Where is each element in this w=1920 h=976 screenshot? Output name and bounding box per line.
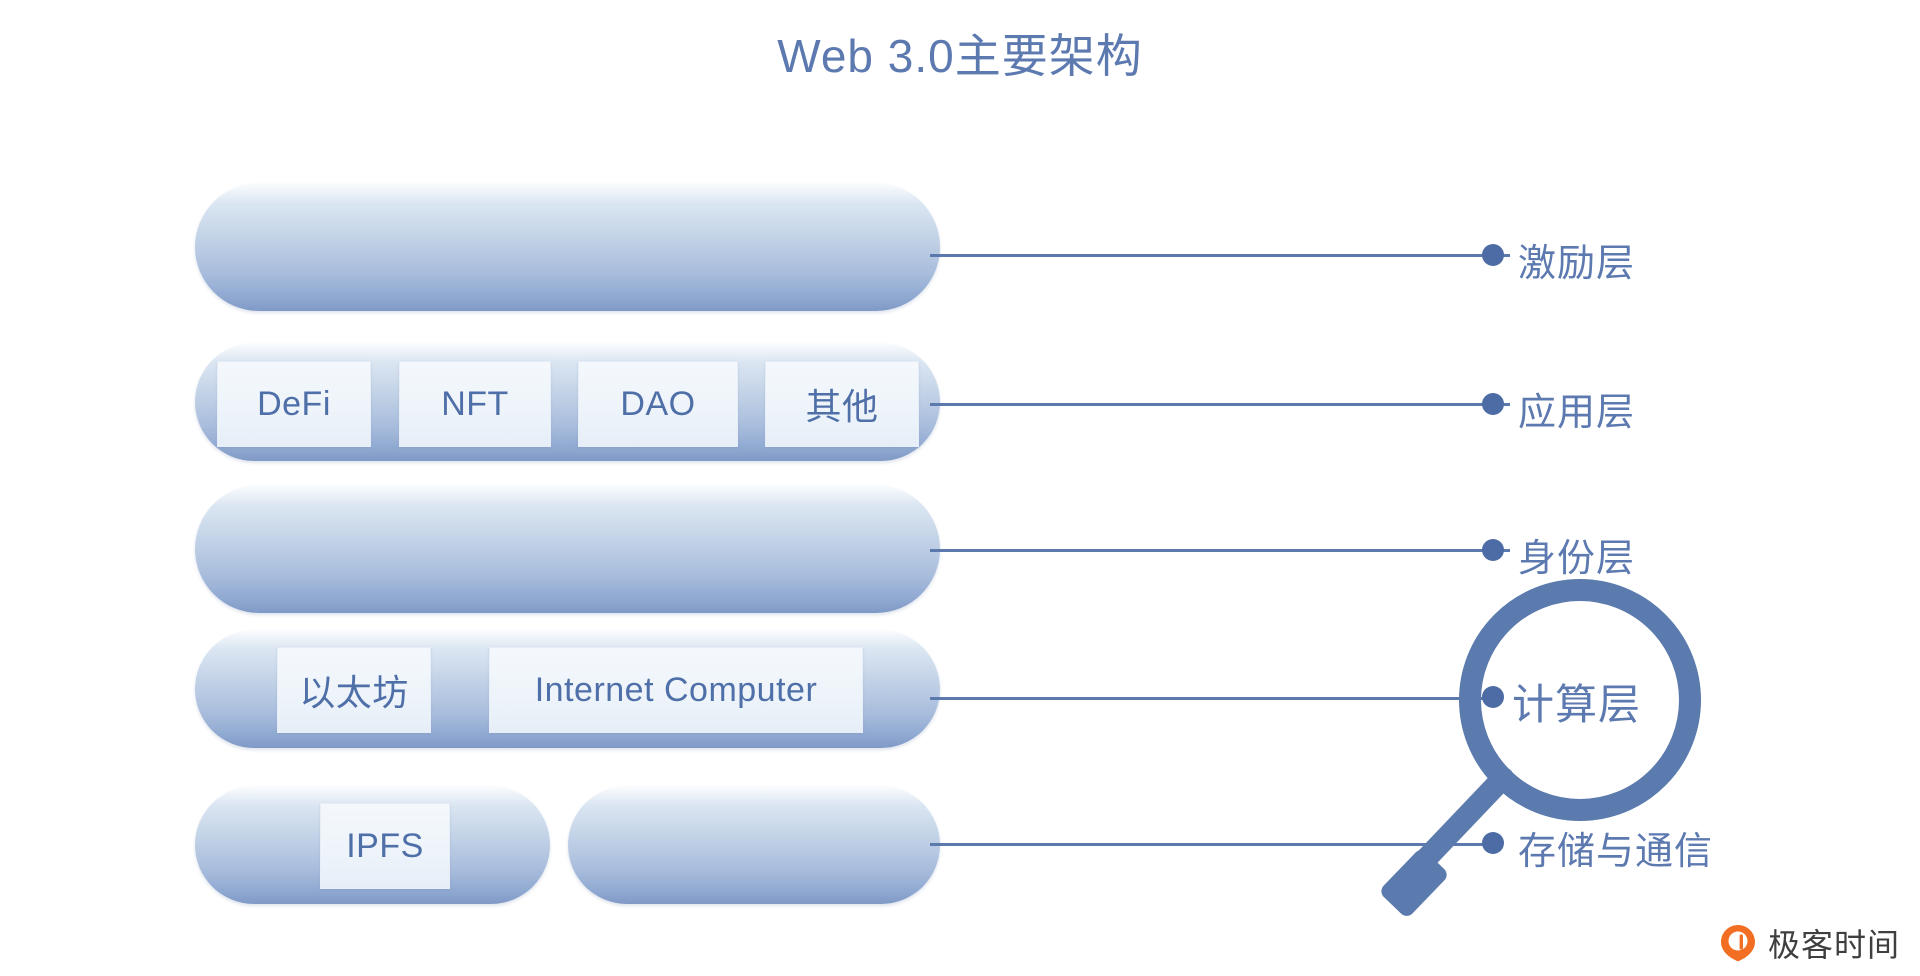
- tag-defi[interactable]: DeFi: [217, 361, 371, 447]
- layer-label-compute: 计算层: [1512, 671, 1641, 732]
- geektime-logo-icon: [1718, 923, 1758, 963]
- layer-bar-compute[interactable]: 以太坊 Internet Computer: [195, 630, 940, 748]
- tag-ipfs[interactable]: IPFS: [320, 803, 450, 889]
- connector-dot-application: [1482, 393, 1504, 415]
- tag-other[interactable]: 其他: [765, 361, 919, 447]
- tag-internet-computer[interactable]: Internet Computer: [489, 647, 863, 733]
- brand-name: 极客时间: [1768, 920, 1900, 966]
- brand-logo: 极客时间: [1718, 920, 1900, 966]
- connector-dot-compute: [1482, 686, 1504, 708]
- compute-tag-row: 以太坊 Internet Computer: [195, 630, 940, 748]
- layer-bar-incentive[interactable]: [195, 183, 940, 311]
- tag-nft[interactable]: NFT: [399, 361, 551, 447]
- layer-label-incentive: 激励层: [1518, 232, 1635, 287]
- slide-canvas: Web 3.0主要架构 激励层 DeFi NFT DAO 其他 应用层 身份层 …: [0, 0, 1920, 976]
- connector-dot-storage: [1482, 832, 1504, 854]
- page-title: Web 3.0主要架构: [0, 20, 1920, 86]
- connector-dot-identity: [1482, 539, 1504, 561]
- tag-dao[interactable]: DAO: [578, 361, 738, 447]
- connector-line-identity: [930, 549, 1510, 552]
- connector-line-application: [930, 403, 1510, 406]
- layer-label-application: 应用层: [1518, 381, 1635, 436]
- layer-label-storage: 存储与通信: [1518, 820, 1713, 875]
- layer-bar-storage-a[interactable]: IPFS: [195, 786, 550, 904]
- connector-dot-incentive: [1482, 244, 1504, 266]
- tag-ethereum[interactable]: 以太坊: [277, 647, 431, 733]
- connector-line-incentive: [930, 254, 1510, 257]
- layer-bar-identity[interactable]: [195, 485, 940, 613]
- magnifying-glass-icon: [1375, 565, 1735, 965]
- storage-tag-row: IPFS: [195, 786, 550, 904]
- layer-bar-application[interactable]: DeFi NFT DAO 其他: [195, 343, 940, 461]
- layer-label-identity: 身份层: [1518, 527, 1635, 582]
- layer-bar-storage-b[interactable]: [568, 786, 940, 904]
- connector-line-storage: [930, 843, 1490, 846]
- application-tag-row: DeFi NFT DAO 其他: [195, 343, 940, 461]
- connector-line-compute: [930, 697, 1490, 700]
